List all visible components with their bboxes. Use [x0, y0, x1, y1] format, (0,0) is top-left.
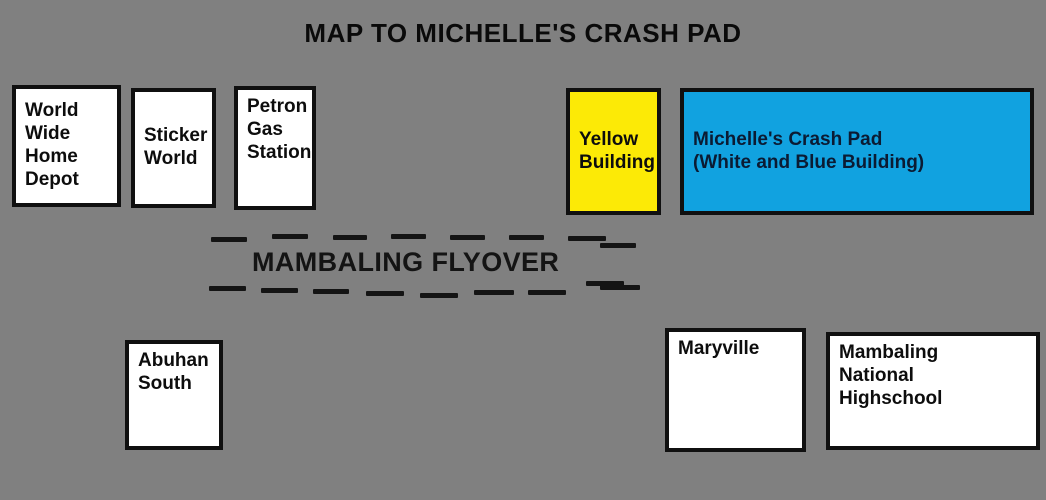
building-label: Michelle's Crash Pad (White and Blue Bui…: [693, 129, 1021, 175]
road-dash-upper-2: [333, 235, 367, 240]
road-dash-lower-0: [209, 286, 246, 291]
road-dash-lower-2: [313, 289, 349, 294]
road-dash-upper-7: [600, 243, 636, 248]
road-dash-upper-3: [391, 234, 426, 239]
building-label: Abuhan South: [138, 350, 210, 396]
building-petron-gas-station[interactable]: Petron Gas Station: [234, 86, 316, 210]
road-dash-lower-4: [420, 293, 458, 298]
road-dash-lower-1: [261, 288, 298, 293]
road-dash-upper-1: [272, 234, 308, 239]
building-michelles-crash-pad[interactable]: Michelle's Crash Pad (White and Blue Bui…: [680, 88, 1034, 215]
building-mambaling-national-highschool[interactable]: Mambaling National Highschool: [826, 332, 1040, 450]
building-label: Petron Gas Station: [247, 96, 303, 164]
road-dash-upper-5: [509, 235, 544, 240]
road-dash-lower-3: [366, 291, 404, 296]
map-canvas: MAP TO MICHELLE'S CRASH PAD World Wide H…: [0, 0, 1046, 500]
flyover-road-label: MAMBALING FLYOVER: [252, 247, 559, 278]
road-dash-lower-6: [528, 290, 566, 295]
page-title: MAP TO MICHELLE'S CRASH PAD: [0, 18, 1046, 49]
building-world-wide-home-depot[interactable]: World Wide Home Depot: [12, 85, 121, 207]
building-label: Yellow Building: [579, 129, 648, 175]
building-label: Sticker World: [144, 125, 203, 171]
building-sticker-world[interactable]: Sticker World: [131, 88, 216, 208]
building-label: World Wide Home Depot: [25, 100, 108, 191]
road-dash-upper-0: [211, 237, 247, 242]
building-yellow-building[interactable]: Yellow Building: [566, 88, 661, 215]
road-dash-upper-4: [450, 235, 485, 240]
building-label: Maryville: [678, 338, 793, 361]
building-label: Mambaling National Highschool: [839, 342, 1027, 410]
road-dash-lower-5: [474, 290, 514, 295]
road-dash-upper-6: [568, 236, 606, 241]
road-dash-lower-8: [600, 285, 640, 290]
building-maryville[interactable]: Maryville: [665, 328, 806, 452]
building-abuhan-south[interactable]: Abuhan South: [125, 340, 223, 450]
